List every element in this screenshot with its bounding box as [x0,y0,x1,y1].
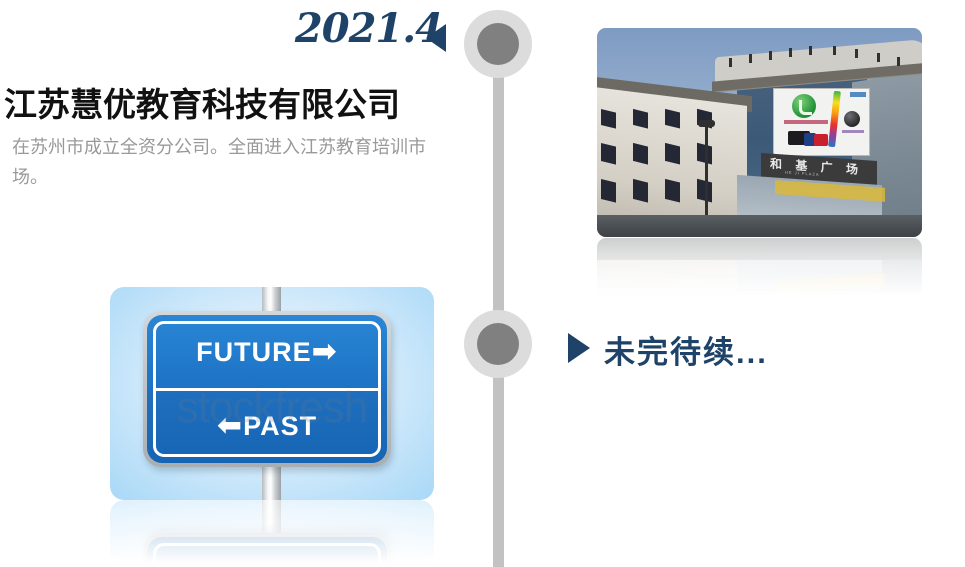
billboard-brand-logo-icon [792,94,816,118]
sign-row-future: FUTURE ➡ [147,315,387,389]
billboard-product-c [814,134,828,146]
building-base [597,215,922,237]
street-lamp-post [705,124,708,216]
plaza-sign-english: HE JI PLAZA [785,170,820,177]
sign-board: FUTURE ➡ ⬅ PAST [143,311,391,467]
timeline-vertical-line [493,36,504,567]
billboard-headline-text [784,120,828,124]
sign-past-label: PAST [243,411,317,442]
timeline-marker-dot-2021-4[interactable] [464,10,532,78]
billboard-rainbow-stripe [828,91,841,147]
billboard-corner-logo [850,92,866,97]
arrow-right-icon: ➡ [312,337,338,367]
sign-row-past: ⬅ PAST [147,389,387,463]
timeline-marker-dot-continue[interactable] [464,310,532,378]
entry-title: 江苏慧优教育科技有限公司 [4,78,400,126]
timeline-date-label: 2021.4 [262,6,442,52]
road-sign-photo: FUTURE ➡ ⬅ PAST stockfresh [110,287,434,500]
building-billboard [773,88,870,156]
timeline-marker-dot-inner [477,323,519,365]
timeline-marker-dot-inner [477,23,519,65]
entry-description: 在苏州市成立全资分公司。全面进入江苏教育培训市场。 [12,132,432,192]
road-sign-photo-reflection [110,500,434,567]
billboard-subtext [842,130,864,133]
building-photo-reflection [597,238,922,296]
building-photo: 和 基 广 场 HE JI PLAZA [597,28,922,237]
triangle-right-icon [568,333,590,363]
billboard-secondary-logo-icon [844,111,860,127]
arrow-left-icon: ⬅ [217,411,243,441]
sign-board-face: FUTURE ➡ ⬅ PAST [147,315,387,463]
sign-future-label: FUTURE [196,337,312,368]
continue-label: 未完待续... [604,327,768,372]
